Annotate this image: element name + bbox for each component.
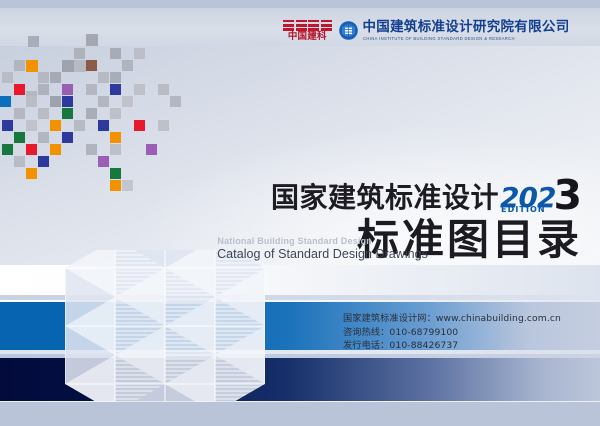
- mosaic-square: [110, 48, 121, 59]
- catalog-cover: 中国建科 中国建筑标准设计研究院有限公司 CHINA INSTITUTE OF …: [0, 0, 600, 426]
- subtitle-en-small: National Building Standard Design: [128, 236, 428, 246]
- mosaic-square: [98, 120, 109, 131]
- mosaic-square: [38, 72, 49, 83]
- mosaic-square: [86, 34, 98, 46]
- mosaic-square: [2, 144, 13, 155]
- mosaic-square: [110, 144, 121, 155]
- title-cn-primary: 国家建筑标准设计: [271, 184, 499, 212]
- title-line-1: 国家建筑标准设计 202 EDITION 3: [271, 178, 582, 212]
- mosaic-square: [62, 84, 73, 95]
- mosaic-square: [170, 96, 181, 107]
- mosaic-square: [38, 108, 49, 119]
- mosaic-square: [110, 84, 121, 95]
- mosaic-square: [134, 84, 145, 95]
- cctc-logo: 中国建科: [283, 20, 332, 42]
- band-white: [0, 265, 600, 295]
- institute-name-cn: 中国建筑标准设计研究院有限公司: [363, 21, 570, 35]
- mosaic-pattern: [0, 18, 160, 168]
- mosaic-square: [50, 72, 61, 83]
- mosaic-square: [110, 168, 121, 179]
- mosaic-square: [14, 132, 25, 143]
- mosaic-square: [110, 132, 121, 143]
- mosaic-square: [74, 60, 86, 72]
- cctc-mark-icon: [283, 20, 332, 31]
- institute-text: 中国建筑标准设计研究院有限公司 CHINA INSTITUTE OF BUILD…: [363, 21, 570, 41]
- mosaic-square: [62, 132, 73, 143]
- mosaic-square: [14, 84, 25, 95]
- mosaic-square: [110, 108, 121, 119]
- institute-mark-icon: [339, 21, 358, 40]
- mosaic-square: [134, 48, 145, 59]
- mosaic-square: [62, 60, 74, 72]
- mosaic-square: [38, 84, 49, 95]
- mosaic-square: [110, 180, 121, 191]
- mosaic-square: [86, 60, 97, 71]
- institute-logo: 中国建筑标准设计研究院有限公司 CHINA INSTITUTE OF BUILD…: [339, 21, 570, 41]
- mosaic-square: [26, 60, 38, 72]
- mosaic-square: [122, 96, 133, 107]
- mosaic-square: [14, 108, 25, 119]
- mosaic-square: [74, 48, 85, 59]
- mosaic-square: [0, 96, 11, 107]
- mosaic-square: [62, 96, 73, 107]
- mosaic-square: [98, 96, 109, 107]
- mosaic-square: [50, 120, 61, 131]
- english-subtitles: National Building Standard Design Catalo…: [128, 236, 428, 261]
- mosaic-square: [146, 144, 157, 155]
- mosaic-square: [86, 144, 97, 155]
- mosaic-square: [28, 36, 39, 47]
- mosaic-square: [38, 132, 49, 143]
- mosaic-square: [2, 120, 13, 131]
- mosaic-square: [14, 156, 25, 167]
- mosaic-square: [86, 84, 97, 95]
- mosaic-square: [50, 144, 61, 155]
- mosaic-square: [122, 180, 133, 191]
- mosaic-square: [110, 72, 121, 83]
- mosaic-square: [98, 72, 109, 83]
- mosaic-square: [26, 120, 37, 131]
- mosaic-square: [14, 60, 25, 71]
- mosaic-square: [74, 120, 85, 131]
- cctc-logo-cn: 中国建科: [288, 32, 327, 42]
- institute-name-en: CHINA INSTITUTE OF BUILDING STANDARD DES…: [363, 37, 574, 41]
- mosaic-square: [26, 168, 37, 179]
- mosaic-square: [122, 60, 133, 71]
- band-navy: [0, 358, 600, 401]
- subtitle-en-main: Catalog of Standard Design Drawings: [128, 247, 428, 261]
- contact-hotline: 咨询热线：010-68799100: [343, 326, 561, 340]
- contact-website: 国家建筑标准设计网：www.chinabuilding.com.cn: [343, 312, 561, 326]
- mosaic-square: [134, 120, 145, 131]
- mosaic-square: [62, 108, 73, 119]
- edition-label: EDITION: [501, 205, 546, 214]
- mosaic-square: [98, 156, 109, 167]
- mosaic-square: [158, 84, 169, 95]
- year-badge: 202 EDITION: [500, 184, 555, 212]
- mosaic-square: [50, 96, 61, 107]
- mosaic-square: [158, 120, 169, 131]
- footer-margin: [0, 402, 600, 426]
- mosaic-square: [38, 156, 49, 167]
- mosaic-square: [2, 72, 13, 83]
- year-last-digit: 3: [553, 175, 582, 216]
- mosaic-square: [86, 108, 97, 119]
- logo-group: 中国建科 中国建筑标准设计研究院有限公司 CHINA INSTITUTE OF …: [283, 20, 570, 42]
- contact-info: 国家建筑标准设计网：www.chinabuilding.com.cn 咨询热线：…: [343, 312, 561, 353]
- mosaic-square: [26, 96, 37, 107]
- mosaic-square: [26, 144, 37, 155]
- contact-distribution: 发行电话：010-88426737: [343, 339, 561, 353]
